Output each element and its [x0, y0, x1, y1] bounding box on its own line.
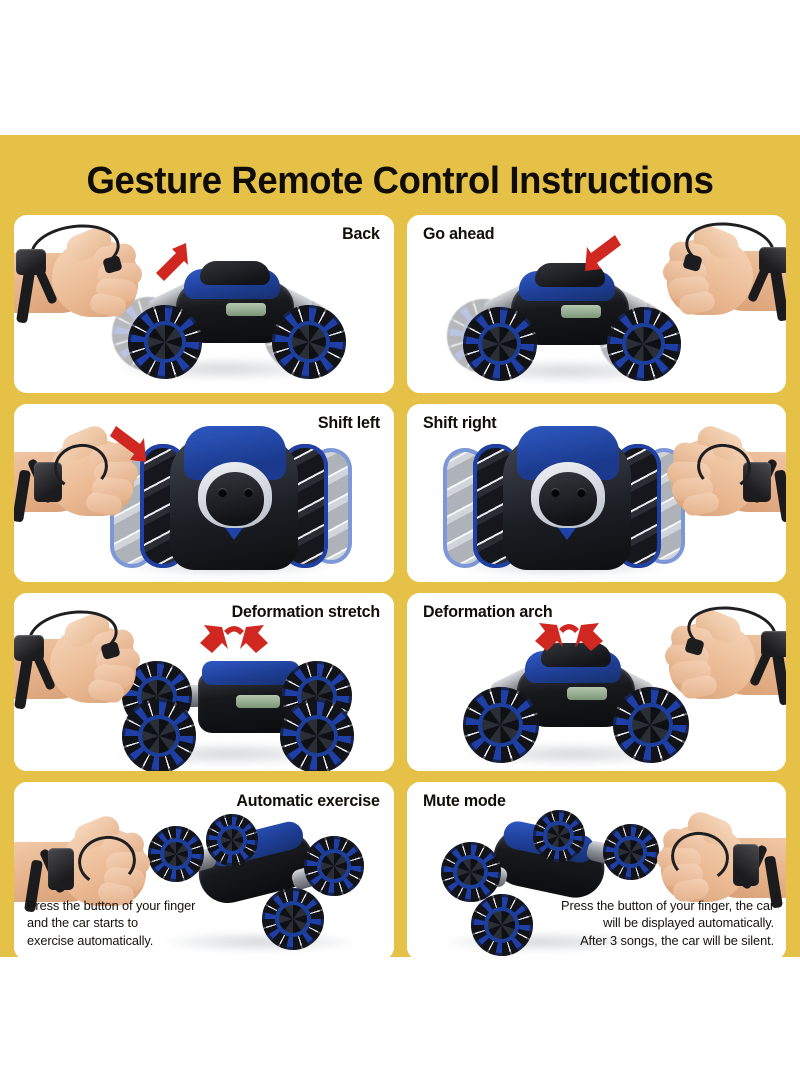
gesture-watch-module [759, 247, 787, 273]
panel-caption: Mute mode [423, 791, 506, 811]
car-wheel-front [463, 687, 539, 763]
rc-car-arch-side [449, 253, 689, 383]
page-title: Gesture Remote Control Instructions [16, 135, 784, 205]
panel-caption: Automatic exercise [236, 791, 379, 811]
car-battery [226, 303, 266, 316]
instruction-panel-automatic-exercise[interactable]: Automatic exercise Press the button of y… [14, 782, 394, 960]
panel-description: Press the button of your finger, the car… [484, 897, 774, 950]
car-wheel [304, 836, 364, 896]
hand-with-gesture-watch [657, 601, 787, 719]
car-face [206, 472, 264, 526]
hand-with-gesture-watch [659, 418, 787, 536]
instruction-panel-go-ahead[interactable]: Go ahead [407, 215, 787, 393]
instruction-panel-shift-left[interactable]: Shift left [14, 404, 394, 582]
car-eye [244, 488, 253, 497]
gesture-watch-module [761, 631, 787, 657]
poster-banner: Gesture Remote Control Instructions [0, 135, 800, 957]
rc-car-front-view [447, 422, 687, 580]
direction-arrow-converge-icon [531, 619, 607, 663]
description-line: exercise automatically. [27, 932, 257, 950]
description-line: After 3 songs, the car will be silent. [484, 932, 774, 950]
car-eye [577, 488, 586, 497]
hand-with-gesture-watch [14, 605, 148, 723]
direction-arrow-down-left-icon [579, 229, 637, 279]
panel-description: Press the button of your finger and the … [27, 897, 257, 950]
direction-arrow-up-right-icon [142, 235, 196, 289]
instruction-panel-mute-mode[interactable]: Mute mode Press the button of your finge… [407, 782, 787, 960]
car-wheel [533, 810, 585, 862]
instruction-panel-back[interactable]: Back [14, 215, 394, 393]
car-eye [218, 488, 227, 497]
car-wheel-front [463, 307, 537, 381]
instruction-panel-deformation-stretch[interactable]: Deformation stretch [14, 593, 394, 771]
gesture-watch-module [14, 635, 44, 661]
panel-caption: Shift left [317, 413, 379, 433]
car-face [539, 472, 597, 526]
panel-caption: Go ahead [423, 224, 494, 244]
instruction-panel-grid: Back [14, 215, 786, 960]
panel-caption: Back [342, 224, 379, 244]
description-line: and the car starts to [27, 914, 257, 932]
description-line: Press the button of your finger, the car [484, 897, 774, 915]
car-wheel-rear-bottom [280, 699, 354, 771]
car-wheel [441, 842, 501, 902]
direction-arrow-down-right-icon [100, 420, 152, 470]
car-battery [236, 695, 280, 708]
car-canopy [200, 261, 270, 285]
car-wheel [206, 814, 258, 866]
instruction-panel-deformation-arch[interactable]: Deformation arch [407, 593, 787, 771]
instruction-panel-shift-right[interactable]: Shift right [407, 404, 787, 582]
car-wheel-rear [272, 305, 346, 379]
panel-caption: Deformation arch [423, 602, 552, 622]
car-wheel [262, 888, 324, 950]
gesture-watch-module [733, 844, 759, 886]
car-battery [567, 687, 607, 700]
description-line: Press the button of your finger [27, 897, 257, 915]
panel-caption: Deformation stretch [231, 602, 379, 622]
car-eye [551, 488, 560, 497]
gesture-watch-module [16, 249, 46, 275]
panel-photo-back [14, 215, 394, 393]
panel-caption: Shift right [423, 413, 496, 433]
direction-arrow-diverge-icon [196, 621, 272, 665]
hand-with-gesture-watch [14, 219, 150, 337]
gesture-watch-module [48, 848, 74, 890]
hand-with-gesture-watch [655, 217, 787, 335]
description-line: will be displayed automatically. [484, 914, 774, 932]
car-battery [561, 305, 601, 318]
